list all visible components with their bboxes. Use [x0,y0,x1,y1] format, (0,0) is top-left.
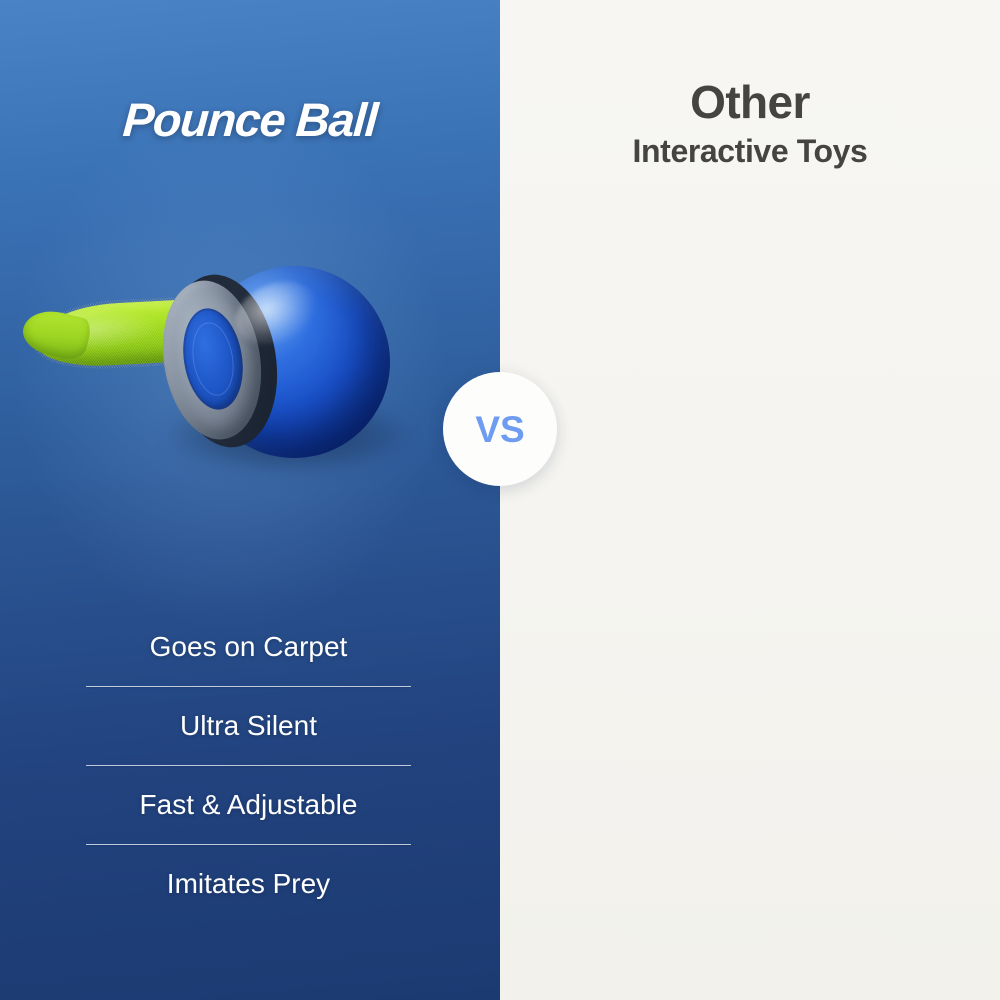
page-title-other: Other [500,78,1000,127]
list-item: Goes on Carpet [86,608,411,686]
right-panel-other-toys: Other Interactive Toys Lacks Power Loud … [500,0,1000,1000]
list-item: Imitates Prey [86,845,411,923]
vs-label: VS [475,411,524,448]
vs-badge: VS [443,372,557,486]
list-item: Ultra Silent [86,687,411,765]
left-title-block: Pounce Ball [0,96,500,143]
feature-label: Imitates Prey [167,869,330,900]
feature-label: Fast & Adjustable [140,790,358,821]
list-item: Fast & Adjustable [86,766,411,844]
feature-label: Goes on Carpet [150,632,348,663]
feature-label: Ultra Silent [180,711,317,742]
page-subtitle-interactive-toys: Interactive Toys [500,131,1000,171]
left-feature-list: Goes on Carpet Ultra Silent Fast & Adjus… [86,608,411,923]
left-panel-pounce-ball: Pounce Ball Goes on Carpet Ultra Silent … [0,0,500,1000]
comparison-infographic: Pounce Ball Goes on Carpet Ultra Silent … [0,0,1000,1000]
pounce-ball-product-image [18,250,418,500]
page-title-pounce-ball: Pounce Ball [0,96,500,143]
right-title-block: Other Interactive Toys [500,78,1000,171]
